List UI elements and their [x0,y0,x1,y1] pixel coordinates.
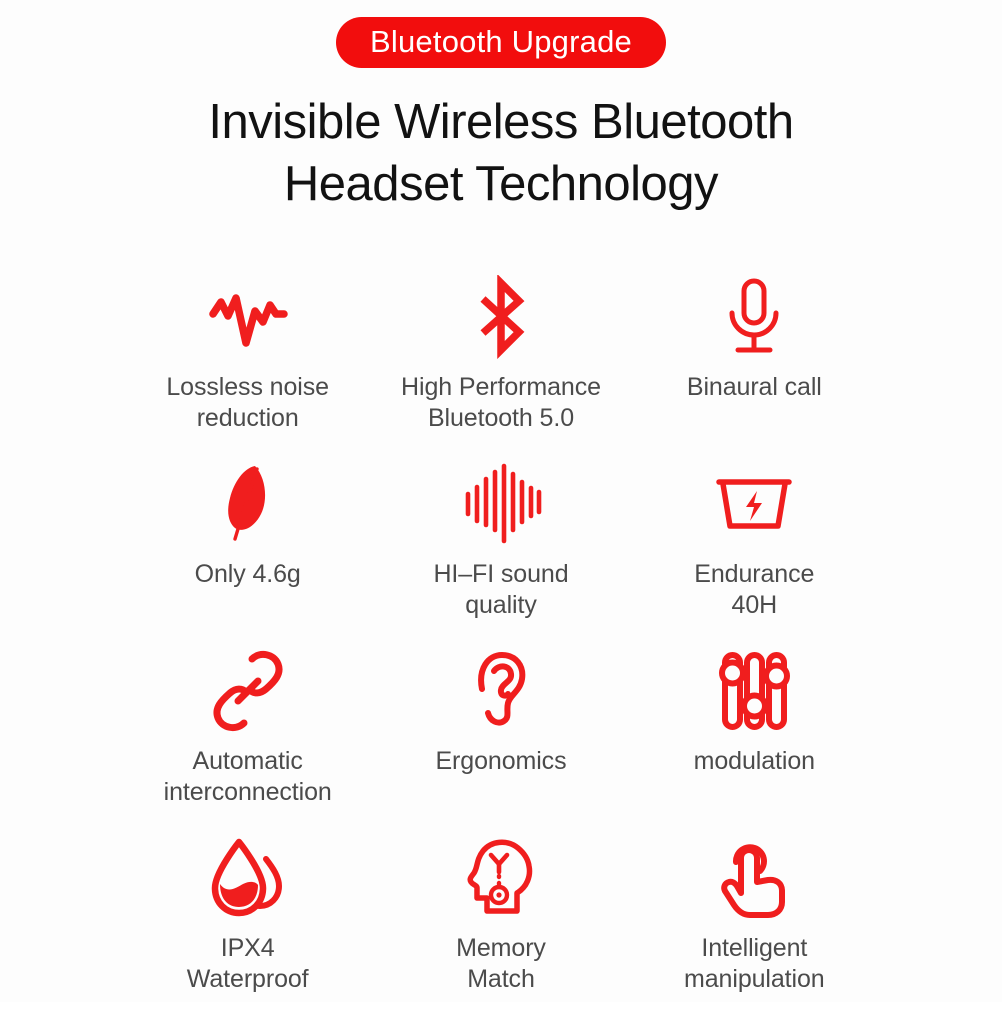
feature-item-modulation: modulation [628,649,881,836]
feature-label: modulation [694,746,815,777]
feature-label: High Performance Bluetooth 5.0 [401,372,601,434]
charging-case-icon [628,462,881,546]
head-profile-icon [374,836,627,920]
feature-label: Lossless noise reduction [166,372,329,434]
feature-item-lossless-noise-reduction: Lossless noise reduction [121,275,374,462]
touch-hand-icon [628,836,881,920]
page-title-line-1: Invisible Wireless Bluetooth [208,91,793,153]
feature-item-endurance: Endurance 40H [628,462,881,649]
feature-item-waterproof: IPX4 Waterproof [121,836,374,1023]
feature-item-bluetooth-5: High Performance Bluetooth 5.0 [374,275,627,462]
microphone-icon [628,275,881,359]
feature-item-memory-match: Memory Match [374,836,627,1023]
feature-item-ergonomics: Ergonomics [374,649,627,836]
feature-item-weight: Only 4.6g [121,462,374,649]
feature-label: Intelligent manipulation [684,933,825,995]
feature-item-intelligent-manipulation: Intelligent manipulation [628,836,881,1023]
feature-item-binaural-call: Binaural call [628,275,881,462]
sound-bars-icon [374,462,627,546]
infographic-page: Bluetooth Upgrade Invisible Wireless Blu… [0,0,1002,1002]
feature-label: Endurance 40H [694,559,814,621]
feature-label: Ergonomics [435,746,566,777]
sliders-icon [628,649,881,733]
feature-label: Binaural call [687,372,822,403]
waveform-icon [121,275,374,359]
feather-icon [121,462,374,546]
feature-label: Only 4.6g [195,559,301,590]
water-drop-icon [121,836,374,920]
feature-label: Memory Match [456,933,546,995]
bluetooth-icon [374,275,627,359]
feature-label: HI–FI sound quality [433,559,568,621]
ear-icon [374,649,627,733]
feature-grid: Lossless noise reduction High Performanc… [121,275,881,1023]
page-title-line-2: Headset Technology [208,153,793,215]
page-title: Invisible Wireless Bluetooth Headset Tec… [208,91,793,215]
feature-label: Automatic interconnection [164,746,332,808]
badge-container: Bluetooth Upgrade [0,17,1002,68]
feature-label: IPX4 Waterproof [187,933,309,995]
chain-link-icon [121,649,374,733]
bluetooth-upgrade-badge: Bluetooth Upgrade [336,17,666,68]
feature-item-hifi-sound: HI–FI sound quality [374,462,627,649]
feature-item-auto-interconnection: Automatic interconnection [121,649,374,836]
